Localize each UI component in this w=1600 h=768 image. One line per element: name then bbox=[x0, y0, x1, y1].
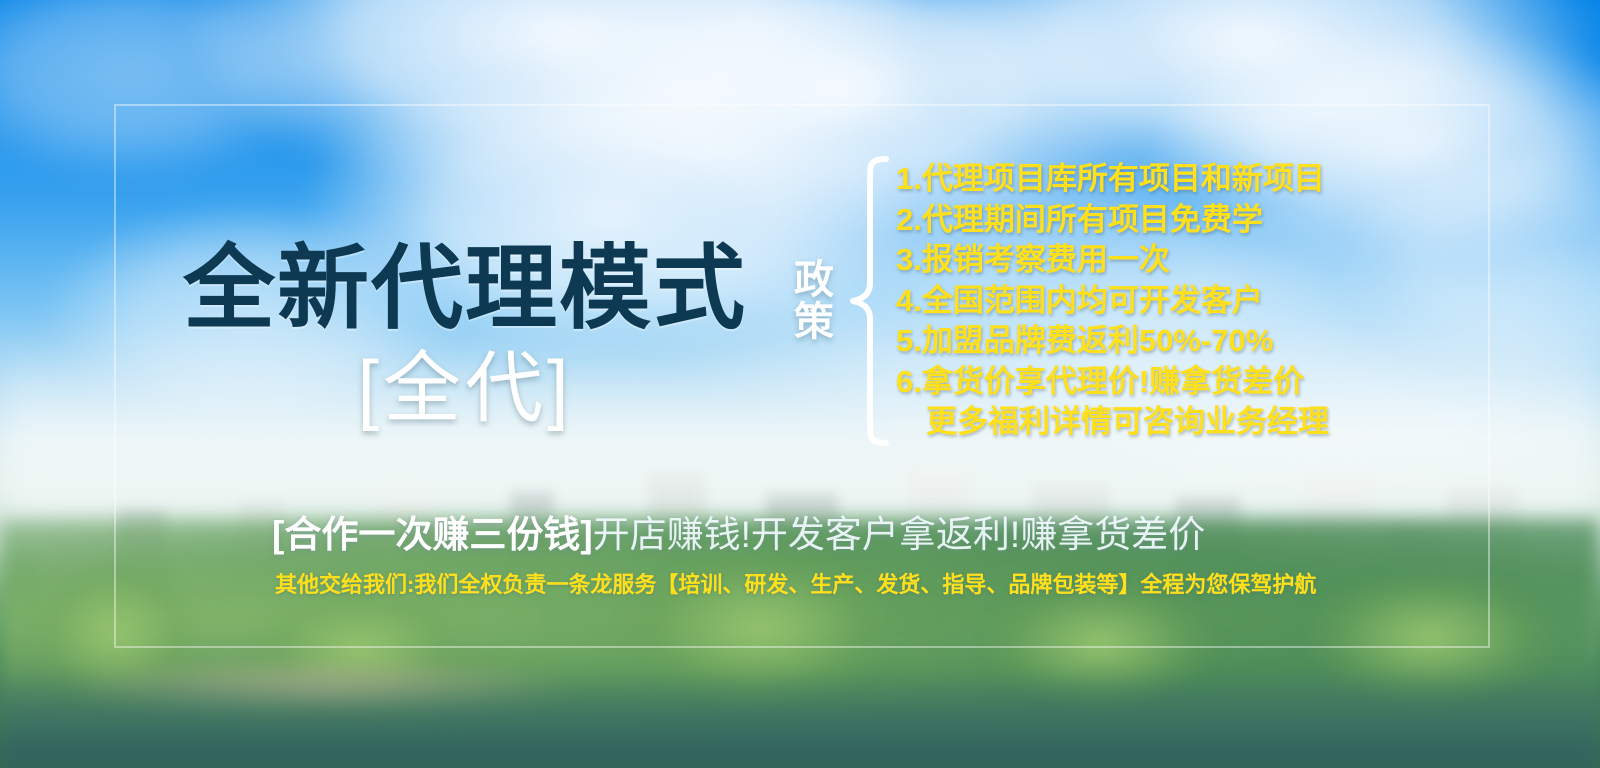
slogan-highlight: [合作一次赚三份钱] bbox=[272, 514, 593, 555]
slogan-rest: 开店赚钱!开发客户拿返利!赚拿货差价 bbox=[593, 514, 1206, 555]
slogan-line: [合作一次赚三份钱]开店赚钱!开发客户拿返利!赚拿货差价 bbox=[272, 516, 1205, 553]
main-title: 全新代理模式 bbox=[175, 243, 755, 335]
footnote-bracket: 【培训、研发、生产、发货、指导、品牌包装等】 bbox=[656, 572, 1140, 597]
footnote-tail: 全程为您保驾护航 bbox=[1140, 572, 1316, 597]
policy-note: 更多福利详情可咨询业务经理 bbox=[896, 402, 1329, 443]
title-block: 全新代理模式 [全代] bbox=[175, 243, 755, 427]
cloud-shape bbox=[0, 0, 340, 180]
footnote-lead: 其他交给我们:我们全权负责一条龙服务 bbox=[275, 572, 656, 597]
policy-item: 4.全国范围内均可开发客户 bbox=[896, 281, 1329, 322]
policy-block: 政策 1.代理项目库所有项目和新项目 2.代理期间所有项目免费学 3.报销考察费… bbox=[788, 155, 1329, 447]
policy-list: 1.代理项目库所有项目和新项目 2.代理期间所有项目免费学 3.报销考察费用一次… bbox=[896, 159, 1329, 443]
policy-item: 2.代理期间所有项目免费学 bbox=[896, 200, 1329, 241]
water-layer bbox=[0, 678, 1600, 768]
policy-item: 3.报销考察费用一次 bbox=[896, 240, 1329, 281]
footnote-line: 其他交给我们:我们全权负责一条龙服务【培训、研发、生产、发货、指导、品牌包装等】… bbox=[275, 574, 1316, 596]
policy-item: 5.加盟品牌费返利50%-70% bbox=[896, 321, 1329, 362]
sub-title: [全代] bbox=[175, 349, 755, 427]
policy-label: 政策 bbox=[788, 259, 840, 343]
curly-brace-icon bbox=[848, 155, 890, 447]
promo-banner: 全新代理模式 [全代] 政策 1.代理项目库所有项目和新项目 2.代理期间所有项… bbox=[0, 0, 1600, 768]
policy-item: 1.代理项目库所有项目和新项目 bbox=[896, 159, 1329, 200]
policy-item: 6.拿货价享代理价!赚拿货差价 bbox=[896, 362, 1329, 403]
